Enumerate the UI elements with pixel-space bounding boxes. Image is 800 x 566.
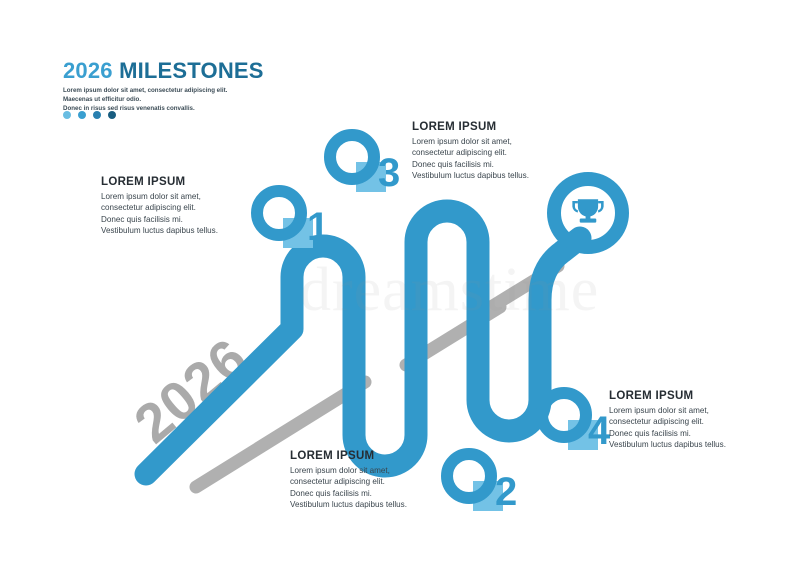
accent-dot-1 <box>63 111 71 119</box>
quarter-number-q1: 1 <box>307 205 329 249</box>
milestone-q4-line-3: Donec quis facilisis mi. <box>609 428 784 439</box>
header-block: 2026 MILESTONES Lorem ipsum dolor sit am… <box>63 60 363 114</box>
accent-dot-2 <box>78 111 86 119</box>
milestone-q3-line-3: Donec quis facilisis mi. <box>412 159 587 170</box>
milestone-heading-q1: LOREM IPSUM <box>101 176 276 188</box>
accent-dots <box>63 111 116 119</box>
milestone-block-q4: LOREM IPSUM Lorem ipsum dolor sit amet, … <box>609 390 784 451</box>
milestone-body-q1: Lorem ipsum dolor sit amet, consectetur … <box>101 191 276 237</box>
milestone-q3-line-1: Lorem ipsum dolor sit amet, <box>412 136 587 147</box>
accent-dot-3 <box>93 111 101 119</box>
subtitle-line-1: Lorem ipsum dolor sit amet, consectetur … <box>63 87 227 94</box>
milestone-q3-line-4: Vestibulum luctus dapibus tellus. <box>412 170 587 181</box>
header-subtitle: Lorem ipsum dolor sit amet, consectetur … <box>63 87 363 114</box>
milestone-q2-line-4: Vestibulum luctus dapibus tellus. <box>290 499 465 510</box>
trophy-icon <box>572 199 603 222</box>
quarter-letter-q1: Q <box>277 226 280 231</box>
milestone-q1-line-1: Lorem ipsum dolor sit amet, <box>101 191 276 202</box>
milestone-heading-q3: LOREM IPSUM <box>412 121 587 133</box>
quarter-letter-q4: Q <box>562 428 565 433</box>
milestone-block-q3: LOREM IPSUM Lorem ipsum dolor sit amet, … <box>412 121 587 182</box>
milestone-block-q2: LOREM IPSUM Lorem ipsum dolor sit amet, … <box>290 450 465 511</box>
quarter-number-q2: 2 <box>495 470 517 514</box>
milestone-q4-line-2: consectetur adipiscing elit. <box>609 416 784 427</box>
quarter-number-q4: 4 <box>588 409 611 453</box>
accent-dot-4 <box>108 111 116 119</box>
milestone-block-q1: LOREM IPSUM Lorem ipsum dolor sit amet, … <box>101 176 276 237</box>
milestone-body-q4: Lorem ipsum dolor sit amet, consectetur … <box>609 405 784 451</box>
page-title: 2026 MILESTONES <box>63 60 363 82</box>
quarter-letter-q3: Q <box>350 170 353 175</box>
infographic-canvas: 2026 dreamstime 2026 MILESTONES Lorem ip… <box>0 0 800 566</box>
milestone-q2-line-1: Lorem ipsum dolor sit amet, <box>290 465 465 476</box>
milestone-q4-line-4: Vestibulum luctus dapibus tellus. <box>609 439 784 450</box>
milestone-q1-line-3: Donec quis facilisis mi. <box>101 214 276 225</box>
milestone-q4-line-1: Lorem ipsum dolor sit amet, <box>609 405 784 416</box>
milestone-q3-line-2: consectetur adipiscing elit. <box>412 147 587 158</box>
title-year: 2026 <box>63 58 113 83</box>
milestone-body-q2: Lorem ipsum dolor sit amet, consectetur … <box>290 465 465 511</box>
quarter-marker-q3[interactable]: 3 Q <box>320 124 410 202</box>
quarter-number-q3: 3 <box>378 151 400 195</box>
subtitle-line-2: Maecenas ut efficitur odio. <box>63 96 141 103</box>
milestone-q1-line-2: consectetur adipiscing elit. <box>101 202 276 213</box>
milestone-body-q3: Lorem ipsum dolor sit amet, consectetur … <box>412 136 587 182</box>
milestone-heading-q4: LOREM IPSUM <box>609 390 784 402</box>
title-word: MILESTONES <box>119 58 264 83</box>
milestone-q1-line-4: Vestibulum luctus dapibus tellus. <box>101 225 276 236</box>
milestone-q2-line-2: consectetur adipiscing elit. <box>290 476 465 487</box>
quarter-letter-q2: Q <box>467 489 470 494</box>
milestone-heading-q2: LOREM IPSUM <box>290 450 465 462</box>
milestone-q2-line-3: Donec quis facilisis mi. <box>290 488 465 499</box>
